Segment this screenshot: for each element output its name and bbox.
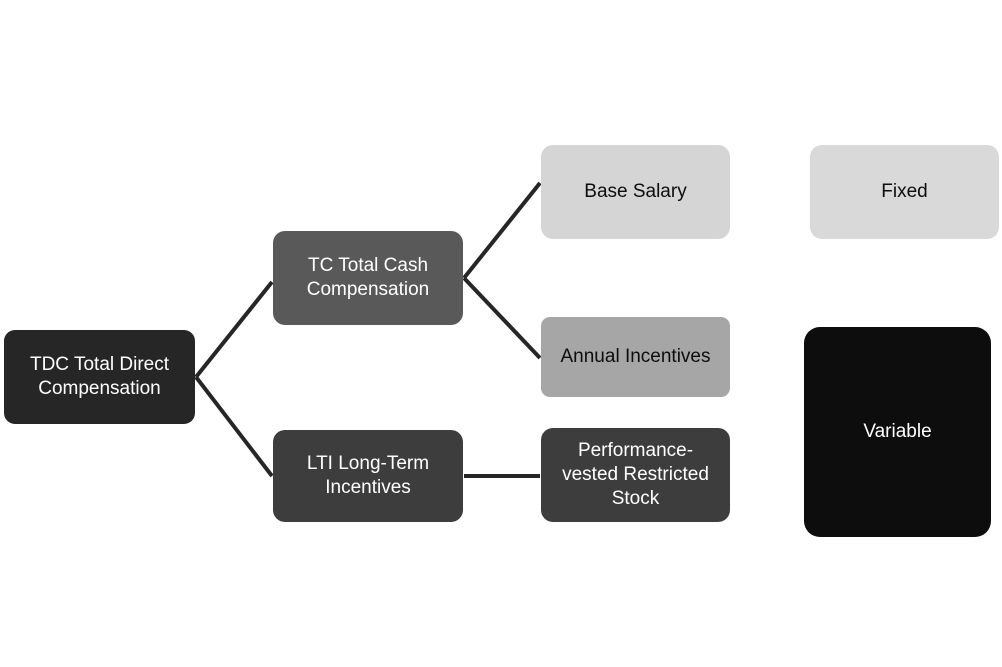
node-tc-total-cash-compensation[interactable]: TC Total Cash Compensation	[273, 231, 463, 325]
node-fixed-label: Fixed	[818, 180, 991, 204]
node-base-salary[interactable]: Base Salary	[541, 145, 730, 239]
node-lti-label: LTI Long-Term Incentives	[281, 452, 455, 501]
node-base-salary-label: Base Salary	[549, 180, 722, 204]
node-performance-stock-label: Performance- vested Restricted Stock	[549, 439, 722, 512]
diagram-canvas: TDC Total Direct Compensation TC Total C…	[0, 0, 1002, 667]
node-fixed-category[interactable]: Fixed	[810, 145, 999, 239]
node-lti-long-term-incentives[interactable]: LTI Long-Term Incentives	[273, 430, 463, 522]
connector-tc-to-base-salary	[464, 183, 540, 278]
node-tdc-total-direct-compensation[interactable]: TDC Total Direct Compensation	[4, 330, 195, 424]
node-annual-incentives-label: Annual Incentives	[549, 345, 722, 369]
node-variable-label: Variable	[812, 420, 983, 444]
connector-tdc-to-lti	[196, 377, 272, 476]
node-annual-incentives[interactable]: Annual Incentives	[541, 317, 730, 397]
node-performance-vested-restricted-stock[interactable]: Performance- vested Restricted Stock	[541, 428, 730, 522]
connector-tc-to-annual-incentives	[464, 278, 540, 358]
node-variable-category[interactable]: Variable	[804, 327, 991, 537]
connector-tdc-to-tc	[196, 282, 272, 377]
node-tc-label: TC Total Cash Compensation	[281, 254, 455, 303]
node-tdc-label: TDC Total Direct Compensation	[12, 353, 187, 402]
